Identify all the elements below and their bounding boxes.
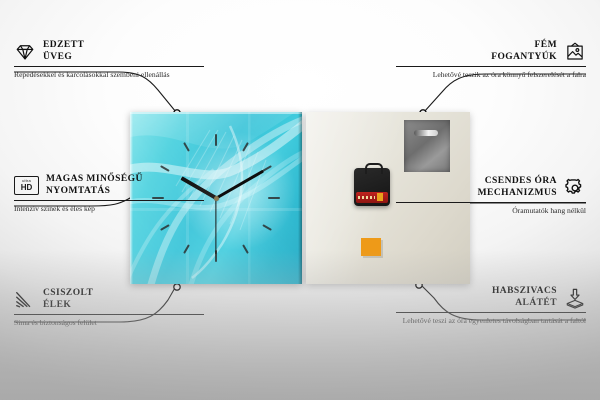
foam-press-icon	[564, 287, 586, 309]
divider	[396, 66, 586, 67]
feature-description: Óramutatók hang nélkül	[396, 206, 586, 216]
feature-title-line2: NYOMTATÁS	[46, 186, 110, 196]
gear-icon	[564, 177, 586, 199]
feature-title-line1: EDZETT	[43, 40, 84, 50]
ultra-hd-icon-main: HD	[21, 184, 33, 192]
feature-tempered-glass: EDZETT ÜVEG Repedésekkel és karcolásokka…	[14, 40, 204, 80]
feature-title-line2: ÜVEG	[43, 52, 72, 62]
diamond-icon	[14, 41, 36, 63]
feature-silent-mechanism: CSENDES ÓRA MECHANIZMUS Óramutatók hang …	[396, 176, 586, 216]
feature-foam-pad: HABSZIVACS ALÁTÉT Lehetővé teszi az óra …	[396, 286, 586, 326]
feature-title-line1: FÉM	[535, 40, 557, 50]
feature-title-line2: FOGANTYÚK	[491, 52, 557, 62]
ultra-hd-icon: ultra HD	[14, 176, 39, 195]
clock-mechanism	[354, 168, 390, 206]
feature-polished-edges: CSISZOLT ÉLEK Sima és biztonságos felüle…	[14, 288, 204, 328]
feature-description: Intenzív színek és éles kép	[14, 204, 204, 214]
feature-title-line2: ÉLEK	[43, 300, 71, 310]
battery	[356, 192, 388, 203]
divider	[396, 312, 586, 313]
divider	[396, 202, 586, 203]
metal-hanger-icon	[404, 120, 450, 172]
feature-metal-handles: FÉM FOGANTYÚK Lehetővé teszik az óra kön…	[396, 40, 586, 80]
feature-description: Sima és biztonságos felület	[14, 318, 204, 328]
feature-title-line1: CSISZOLT	[43, 288, 93, 298]
polished-edge-icon	[14, 289, 36, 311]
feature-description: Lehetővé teszik az óra könnyű felszerelé…	[396, 70, 586, 80]
mechanism-loop	[365, 163, 383, 174]
feature-high-quality-print: ultra HD MAGAS MINŐSÉGŰ NYOMTATÁS Intenz…	[14, 174, 204, 214]
feature-description: Lehetővé teszi az óra egyenletes távolsá…	[396, 316, 586, 326]
divider	[14, 314, 204, 315]
feature-title-line1: MAGAS MINŐSÉGŰ	[46, 174, 143, 184]
feature-title-line2: MECHANIZMUS	[478, 188, 557, 198]
feature-description: Repedésekkel és karcolásokkal szembeni e…	[14, 70, 204, 80]
foam-pad	[361, 238, 381, 256]
picture-frame-hook-icon	[564, 41, 586, 63]
feature-title-line1: CSENDES ÓRA	[485, 176, 557, 186]
product-infographic: EDZETT ÜVEG Repedésekkel és karcolásokka…	[0, 0, 600, 400]
clock-center-pin	[214, 196, 219, 201]
divider	[14, 66, 204, 67]
feature-title-line1: HABSZIVACS	[492, 286, 557, 296]
divider	[14, 200, 204, 201]
feature-title-line2: ALÁTÉT	[515, 298, 557, 308]
